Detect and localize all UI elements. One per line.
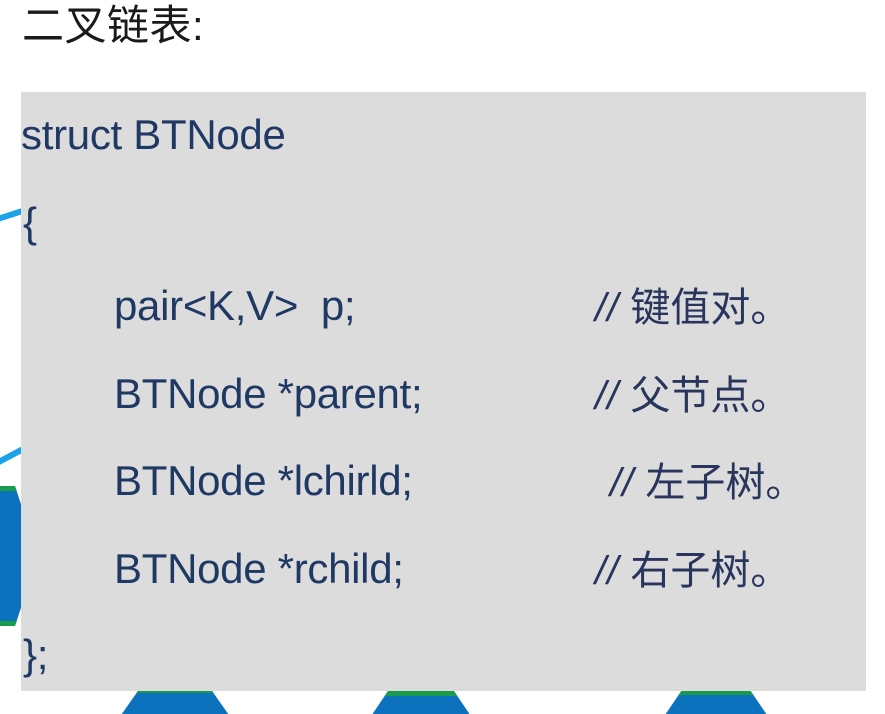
comment-slashes-pair: // xyxy=(595,286,619,330)
code-comment-parent: // 父节点。 xyxy=(595,376,790,416)
code-line-rchild-member: BTNode *rchild; xyxy=(114,548,404,590)
comment-text-lchild: 左子树。 xyxy=(634,461,805,505)
hexagon-bottom-3 xyxy=(648,690,784,714)
code-comment-lchild: // 左子树。 xyxy=(610,463,805,503)
code-line-pair-member: pair<K,V> p; xyxy=(114,285,355,327)
comment-text-parent: 父节点。 xyxy=(619,374,790,418)
code-line-lchild-member: BTNode *lchirld; xyxy=(114,460,413,502)
comment-text-pair: 键值对。 xyxy=(619,286,790,330)
code-line-open-brace: { xyxy=(23,202,37,244)
page-title: 二叉链表: xyxy=(22,2,204,49)
code-block: struct BTNode { pair<K,V> p; // 键值对。 BTN… xyxy=(21,92,866,691)
comment-text-rchild: 右子树。 xyxy=(619,549,790,593)
comment-slashes-parent: // xyxy=(595,374,619,418)
slide-canvas: 二叉链表: struct BTNode { pair<K,V> p; // 键值… xyxy=(0,0,885,714)
comment-slashes-rchild: // xyxy=(595,549,619,593)
code-line-struct-decl: struct BTNode xyxy=(21,114,286,156)
comment-slashes-lchild: // xyxy=(610,461,634,505)
code-line-close-brace: }; xyxy=(23,634,48,676)
hexagon-bottom-2 xyxy=(355,691,487,714)
code-comment-rchild: // 右子树。 xyxy=(595,551,790,591)
hexagon-bottom-1 xyxy=(105,688,245,714)
code-comment-pair: // 键值对。 xyxy=(595,288,790,328)
code-line-parent-member: BTNode *parent; xyxy=(114,373,422,415)
